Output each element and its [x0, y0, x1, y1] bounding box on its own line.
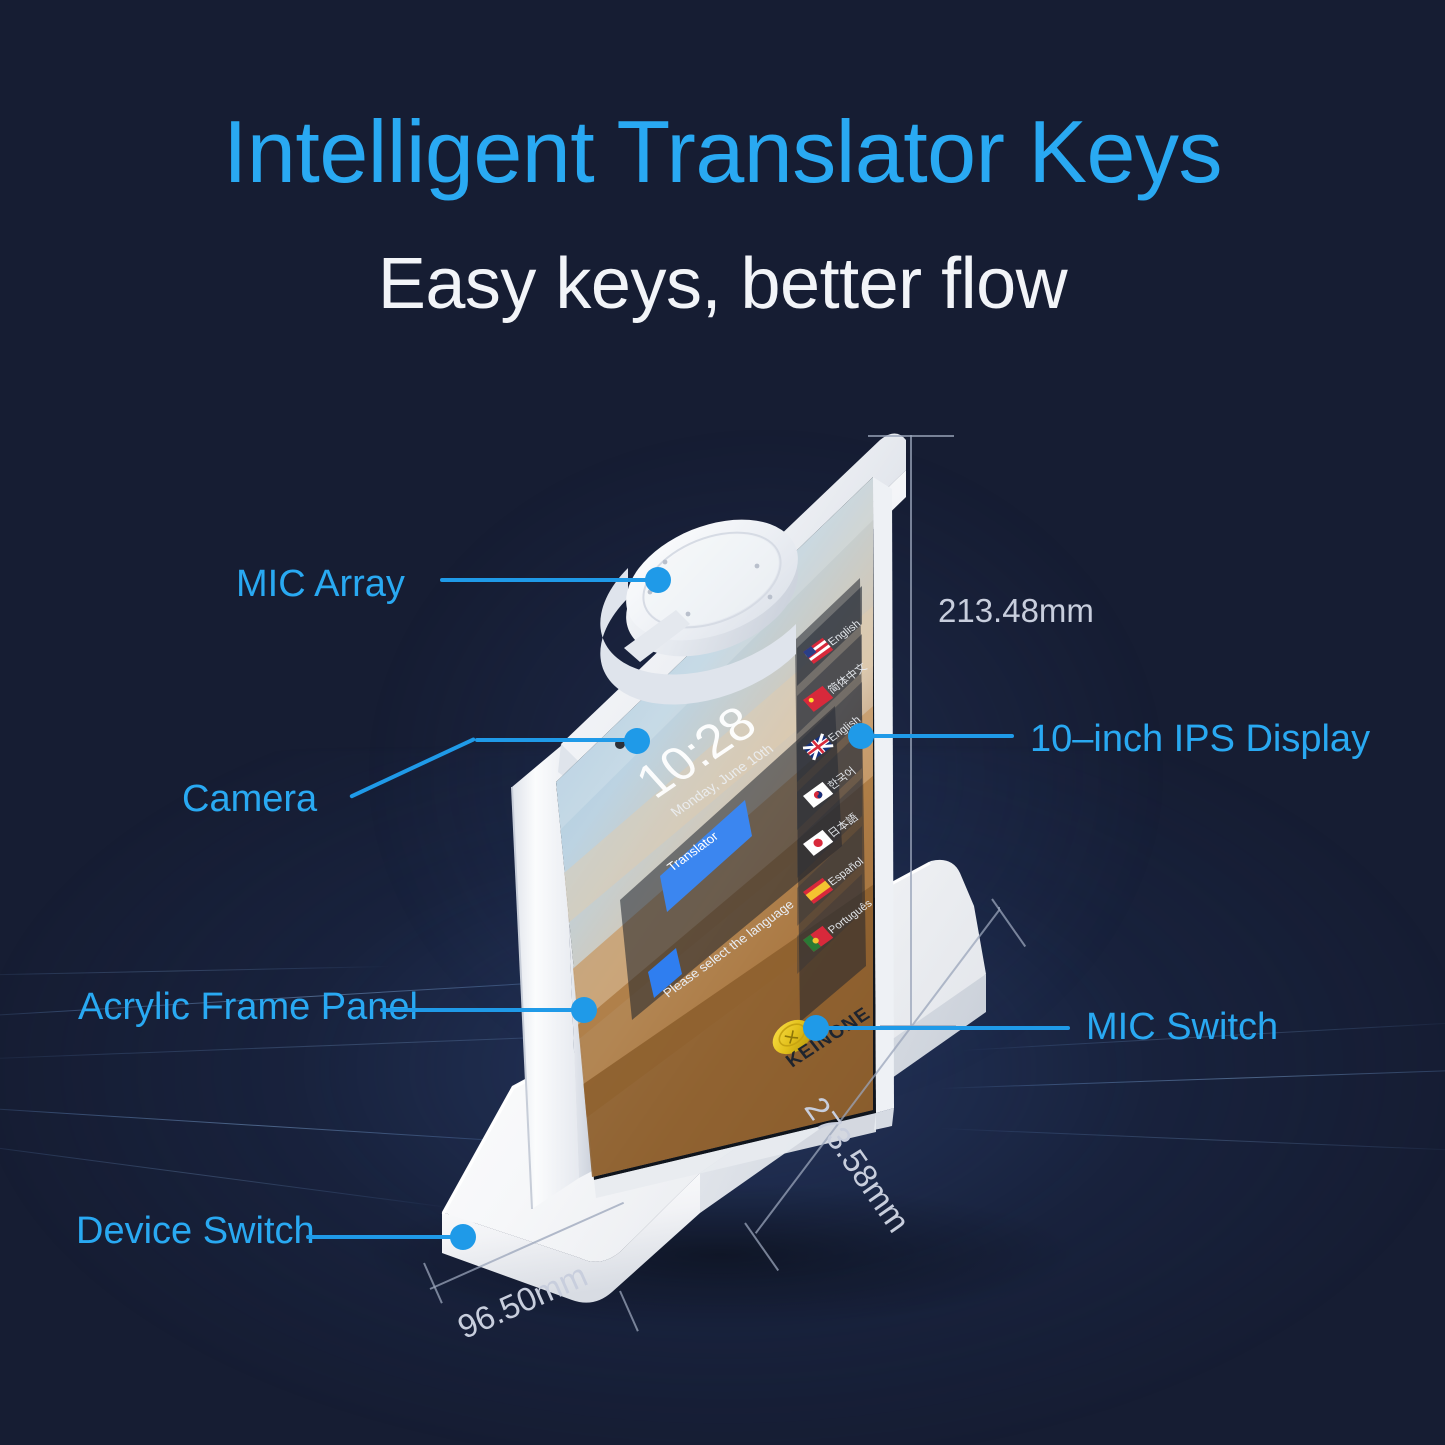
callout-camera-line: [475, 738, 635, 742]
callout-device-switch-dot: [450, 1224, 476, 1250]
callout-ips-display-dot: [848, 723, 874, 749]
callout-ips-display-label: 10–inch IPS Display: [1030, 720, 1370, 758]
callout-device-switch-label: Device Switch: [76, 1212, 315, 1250]
callout-acrylic-frame-panel-label: Acrylic Frame Panel: [78, 988, 418, 1026]
callout-camera-label: Camera: [182, 780, 317, 818]
background-glow-secondary: [260, 376, 1272, 1171]
dimension-height-label: 213.48mm: [938, 592, 1094, 630]
callout-mic-array-label: MIC Array: [236, 565, 405, 603]
callout-device-switch-line: [306, 1235, 466, 1239]
page-subtitle: Easy keys, better flow: [0, 248, 1445, 320]
callout-mic-switch-line: [816, 1026, 1070, 1030]
callout-mic-array-line: [440, 578, 656, 582]
callout-mic-switch-label: MIC Switch: [1086, 1008, 1278, 1046]
page-title: Intelligent Translator Keys: [0, 108, 1445, 196]
callout-acrylic-frame-panel-dot: [571, 997, 597, 1023]
callout-ips-display-line: [862, 734, 1014, 738]
callout-mic-array-dot: [645, 567, 671, 593]
callout-mic-switch-dot: [803, 1015, 829, 1041]
callout-camera-dot: [624, 728, 650, 754]
callout-acrylic-frame-panel-line: [380, 1008, 580, 1012]
